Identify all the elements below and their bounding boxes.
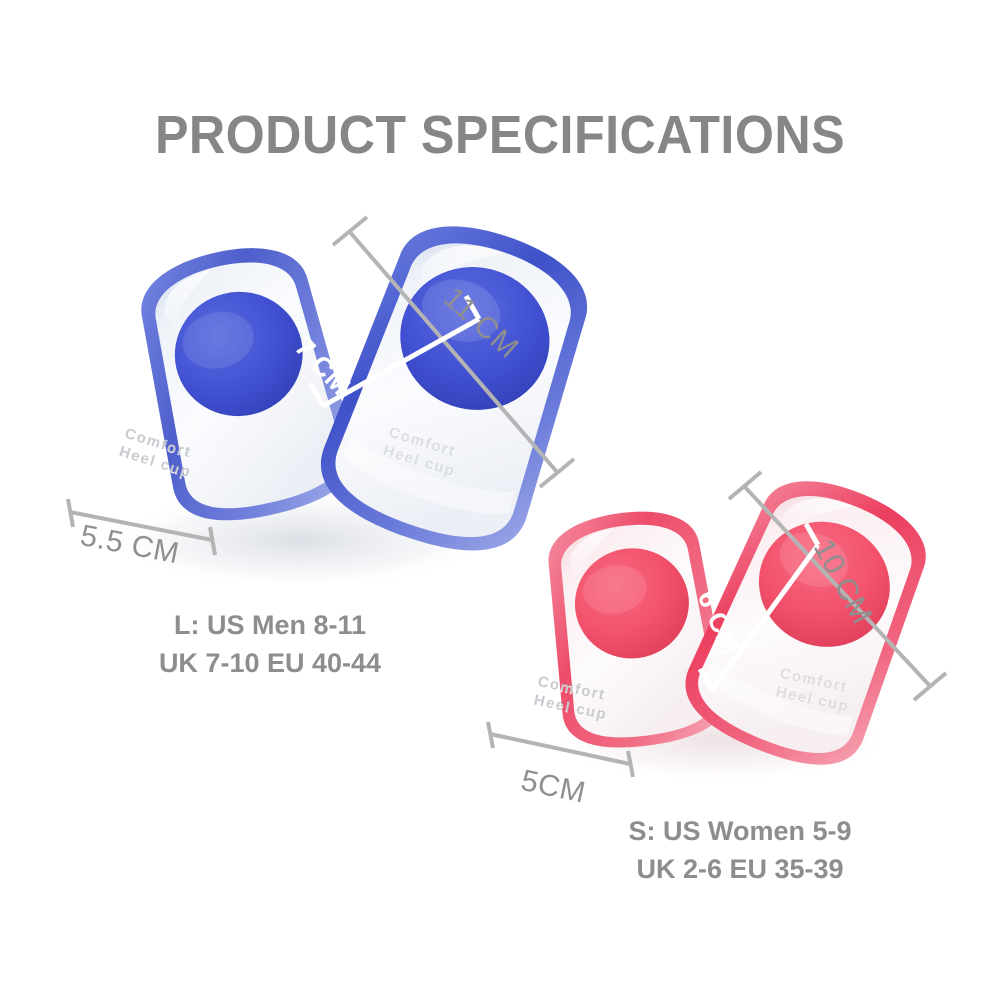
size-caption-large-line-1: L: US Men 8-11 [60, 606, 480, 644]
size-caption-small-line-1: S: US Women 5-9 [530, 812, 950, 850]
size-caption-large: L: US Men 8-11 UK 7-10 EU 40-44 [60, 606, 480, 682]
product-specification-sheet: PRODUCT SPECIFICATIONS [0, 0, 1000, 1000]
size-caption-large-line-2: UK 7-10 EU 40-44 [60, 644, 480, 682]
size-caption-small-line-2: UK 2-6 EU 35-39 [530, 850, 950, 888]
size-caption-small: S: US Women 5-9 UK 2-6 EU 35-39 [530, 812, 950, 888]
